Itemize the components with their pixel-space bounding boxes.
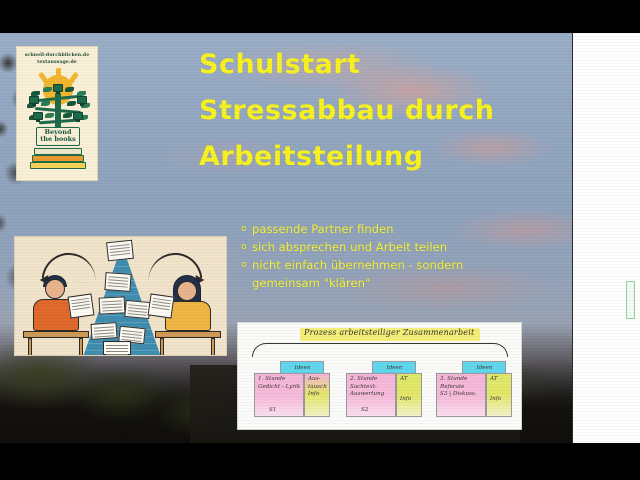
left-desk (23, 331, 89, 338)
sticky-note-main: 1. Stunde Gedicht - Lyrik S1 (254, 373, 304, 417)
tree-leaf (45, 113, 54, 118)
screenshot-root: schnell-durchblicken.de textaussage.de (0, 0, 640, 480)
note-line: Referate (440, 384, 483, 392)
paper-sheet (99, 296, 126, 314)
list-item-label: passende Partner finden (252, 221, 394, 239)
bullet-marker-icon: o (241, 221, 252, 238)
sticky-note-main: 3. Stunde Referate S3 | Diskuss. (436, 373, 486, 417)
computer-screen-icon (53, 84, 63, 92)
note-line: AT (400, 376, 419, 384)
paper-held-left (68, 293, 95, 318)
title-line-2: Stressabbau durch (199, 97, 539, 124)
video-frame: schnell-durchblicken.de textaussage.de (0, 33, 640, 443)
logo-url-text: schnell-durchblicken.de textaussage.de (17, 47, 97, 67)
right-desk (155, 331, 221, 338)
two-students-sharing-papers-illustration (14, 236, 227, 356)
note-line: 3. Stunde (440, 376, 483, 384)
computer-screen-icon (29, 96, 39, 104)
left-desk-leg (79, 338, 83, 356)
tree-leaf (63, 113, 72, 118)
handwritten-whiteboard-sketch: Prozess arbeitsteiliger Zusammenarbeit I… (237, 322, 522, 430)
beyond-the-books-logo: schnell-durchblicken.de textaussage.de (16, 46, 98, 181)
banner-line-2: the books (40, 136, 76, 143)
sun-ray-icon (56, 68, 61, 80)
right-desk-leg (211, 338, 215, 356)
list-item-continuation: gemeinsam "klären" (241, 275, 531, 293)
sun-ray-icon (68, 71, 79, 84)
bullet-marker-icon: o (241, 257, 252, 274)
note-line: S3 | Diskuss. (440, 391, 483, 399)
book-stack-top (34, 148, 82, 155)
paper-sheet (104, 272, 131, 292)
tree-leaf (67, 101, 76, 106)
logo-tree-artwork: Beyond the books (17, 67, 98, 171)
sticky-note-main: 2. Stunde Sachtext- Auswertung S2 (346, 373, 396, 417)
note-line: Info (400, 396, 419, 404)
tree-leaf (41, 101, 50, 106)
paper-sheet (90, 322, 117, 340)
list-item: o sich absprechen und Arbeit teilen (241, 239, 531, 257)
sticky-note-side: AT Info (396, 373, 422, 417)
page-title: Schulstart Stressabbau durch Arbeitsteil… (199, 51, 539, 189)
right-student-head (177, 281, 197, 301)
sketch-title: Prozess arbeitsteiliger Zusammenarbeit (304, 328, 480, 337)
note-line: Info (308, 391, 327, 399)
note-line: Gedicht - Lyrik (258, 384, 301, 392)
bullet-list: o passende Partner finden o sich absprec… (241, 221, 531, 293)
note-line: Info (490, 396, 509, 404)
right-desk-leg (160, 338, 164, 356)
computer-screen-icon (33, 112, 43, 120)
sticky-note-group: Ideen 3. Stunde Referate S3 | Diskuss. A… (436, 361, 514, 421)
bullet-marker-icon: o (241, 239, 252, 256)
sticky-note-group: Ideen 1. Stunde Gedicht - Lyrik S1 Aus- … (254, 361, 332, 421)
list-item: o nicht einfach übernehmen - sondern (241, 257, 531, 275)
list-item-label: nicht einfach übernehmen - sondern (252, 257, 463, 275)
sticky-note-group: Ideen 2. Stunde Sachtext- Auswertung S2 … (346, 361, 424, 421)
green-marker-rectangle[interactable] (626, 281, 635, 319)
paper-held-right (148, 293, 175, 318)
tree-leaf (65, 87, 74, 92)
white-side-panel (572, 33, 640, 443)
note-line: 2. Stunde (350, 376, 393, 384)
book-stack-middle (32, 155, 84, 162)
logo-url-line-1: schnell-durchblicken.de (17, 53, 97, 60)
note-line: Aus- (308, 376, 327, 384)
note-line: 1. Stunde (258, 376, 301, 384)
left-student-head (45, 279, 65, 299)
sticky-note-side: AT Info (486, 373, 512, 417)
note-line: tausch (308, 384, 327, 392)
note-line: Sachtext- (350, 384, 393, 392)
sticky-note-side: Aus- tausch Info (304, 373, 330, 417)
list-item-label: sich absprechen und Arbeit teilen (252, 239, 447, 257)
note-line: Auswertung (350, 391, 393, 399)
computer-screen-icon (73, 112, 83, 120)
paper-sheet (124, 300, 150, 319)
tree-leaf (43, 87, 52, 92)
book-stack-bottom (30, 162, 86, 169)
title-line-1: Schulstart (199, 51, 539, 78)
logo-url-line-2: textaussage.de (17, 60, 97, 67)
computer-screen-icon (77, 96, 87, 104)
list-item: o passende Partner finden (241, 221, 531, 239)
paper-sheet (103, 341, 131, 355)
note-number: S2 (361, 407, 368, 415)
note-line: AT (490, 376, 509, 384)
beyond-the-books-banner: Beyond the books (36, 127, 80, 146)
list-item-continuation-label: gemeinsam "klären" (252, 275, 370, 293)
title-line-3: Arbeitsteilung (199, 143, 539, 170)
note-number: S1 (269, 407, 276, 415)
left-desk-leg (28, 338, 32, 356)
paper-sheet (106, 240, 134, 262)
sketch-brace (252, 343, 508, 357)
